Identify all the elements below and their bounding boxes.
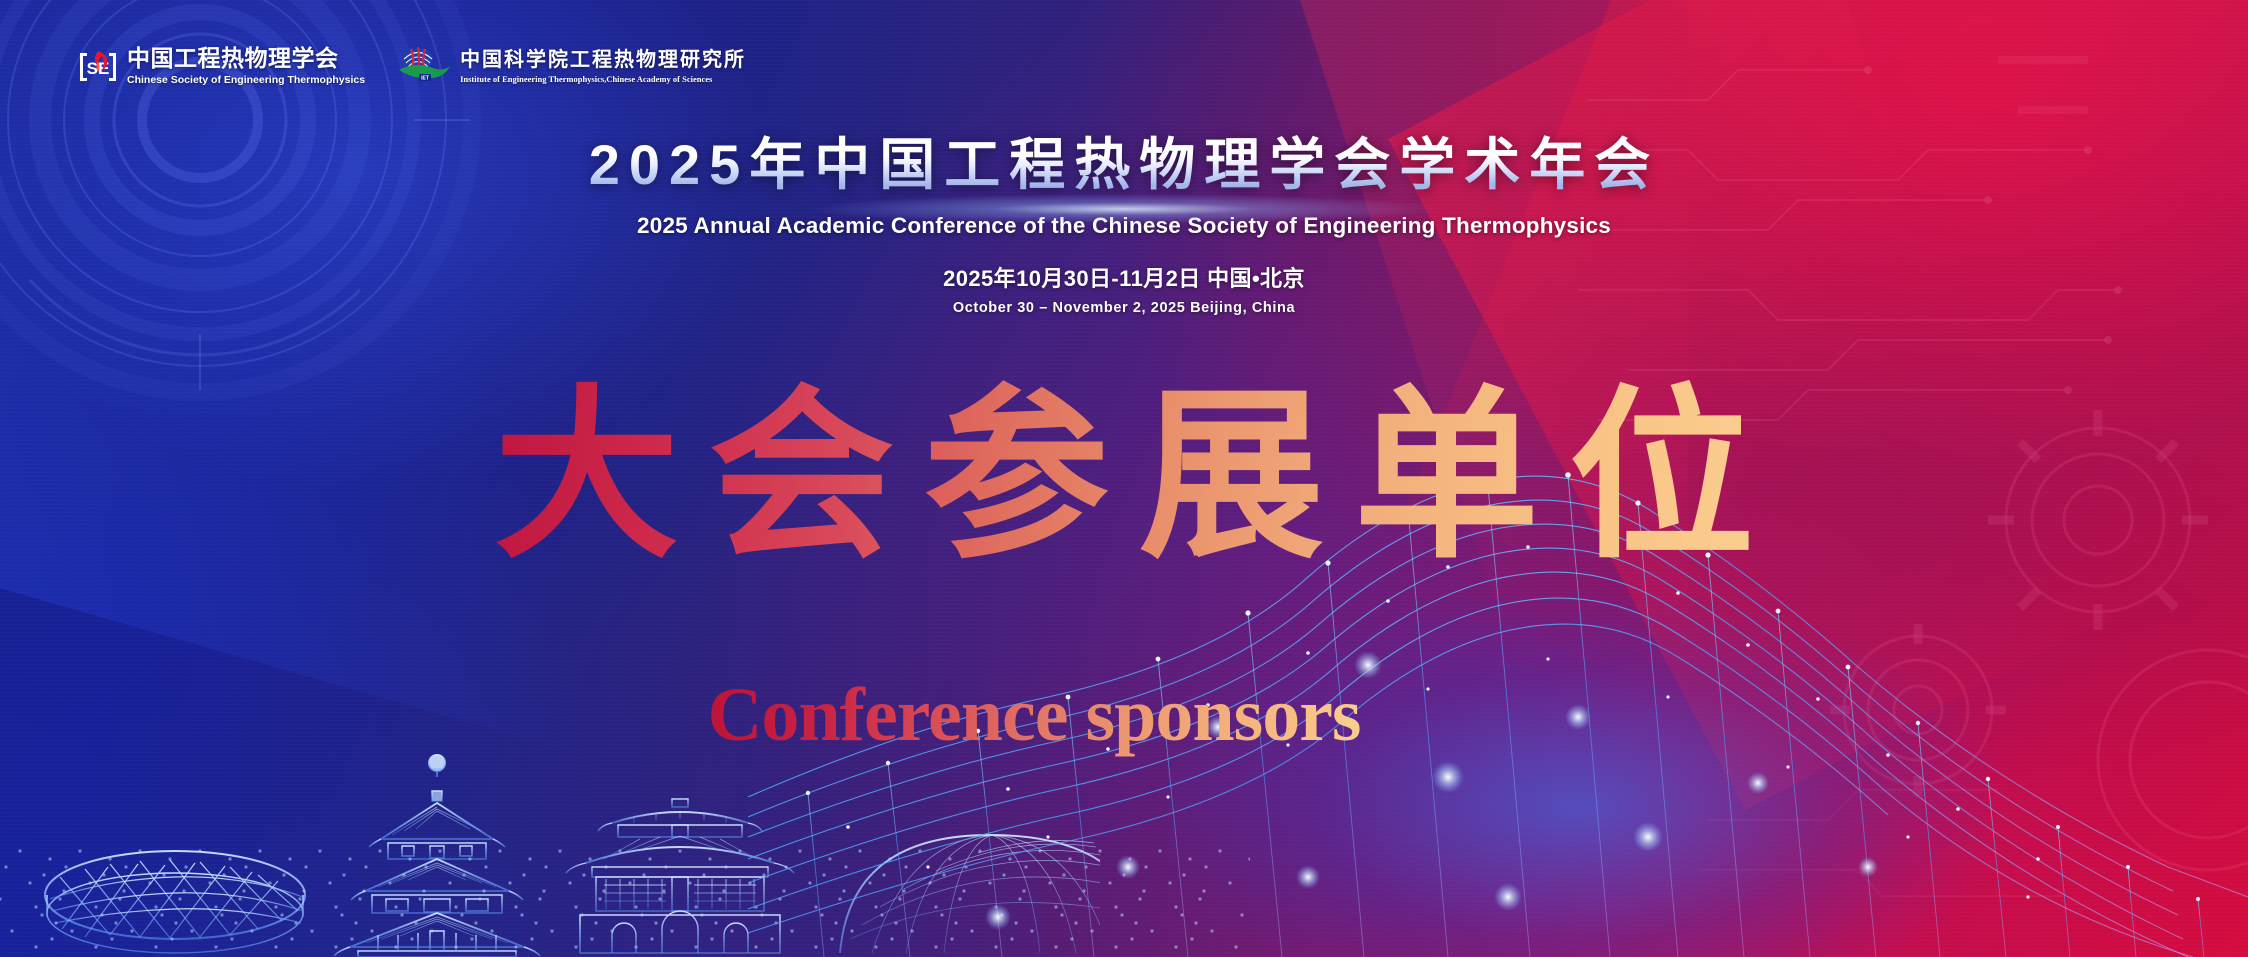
particle-floor-decoration xyxy=(0,837,1250,957)
background-facet-red-3 xyxy=(1274,0,2022,700)
logo-cset-name-cn: 中国工程热物理学会 xyxy=(127,47,365,70)
conference-banner: SE 中国工程热物理学会 Chinese Society of Engineer… xyxy=(0,0,2248,957)
conference-date-cn: 2025年10月30日-11月2日 中国•北京 xyxy=(0,261,2248,293)
headline-block: 大会参展单位 xyxy=(0,378,2248,578)
logo-iet-cas-name-en: Institute of Engineering Thermophysics,C… xyxy=(460,75,746,84)
national-centre-performing-arts xyxy=(840,835,1100,953)
cset-flame-icon: SE xyxy=(78,47,118,87)
birds-nest-stadium xyxy=(45,851,305,953)
logo-iet-cas: IET 中国科学院工程热物理研究所 Institute of Engineeri… xyxy=(395,44,746,89)
logo-cset-name-en: Chinese Society of Engineering Thermophy… xyxy=(127,75,365,86)
organizer-logo-bar: SE 中国工程热物理学会 Chinese Society of Engineer… xyxy=(78,44,746,89)
headline-en: Conference sponsors xyxy=(707,672,1360,759)
subheadline-block: Conference sponsors xyxy=(0,672,2248,759)
headline-cn: 大会参展单位 xyxy=(494,378,1784,578)
mesh-glow-decoration xyxy=(1168,597,1988,957)
logo-iet-cas-name-cn: 中国科学院工程热物理研究所 xyxy=(460,50,746,70)
conference-title-cn: 2025年中国工程热物理学会学术年会 xyxy=(589,120,1660,201)
logo-cset-text: 中国工程热物理学会 Chinese Society of Engineering… xyxy=(127,47,365,86)
tiananmen-gate xyxy=(566,793,794,953)
logo-iet-cas-text: 中国科学院工程热物理研究所 Institute of Engineering T… xyxy=(460,50,746,84)
conference-date-en: October 30 – November 2, 2025 Beijing, C… xyxy=(0,300,2248,316)
conference-title-en: 2025 Annual Academic Conference of the C… xyxy=(0,213,2248,239)
logo-cset: SE 中国工程热物理学会 Chinese Society of Engineer… xyxy=(78,47,365,87)
iet-cas-icon: IET xyxy=(395,44,451,89)
conference-title-block: 2025年中国工程热物理学会学术年会 2025 Annual Academic … xyxy=(0,120,2248,316)
temple-of-heaven xyxy=(334,755,540,957)
svg-text:IET: IET xyxy=(421,76,429,82)
